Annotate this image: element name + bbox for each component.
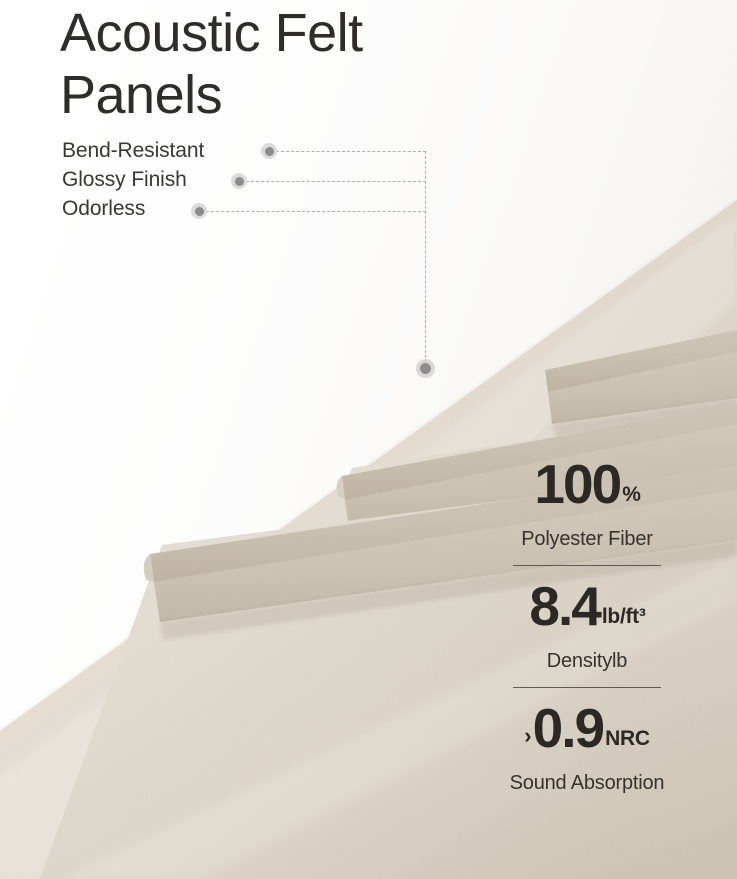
- connector-line-1: [276, 151, 426, 152]
- connector-line-vertical: [425, 151, 426, 363]
- feature-item-glossy-finish: Glossy Finish: [62, 165, 204, 194]
- spec-list: 100% Polyester Fiber 8.4lb/ft³ Densitylb…: [487, 455, 687, 796]
- feature-label: Odorless: [62, 194, 145, 223]
- connector-dot-glossy-finish: [231, 173, 247, 189]
- spec-value: 8.4lb/ft³: [487, 577, 687, 646]
- connector-line-3: [206, 211, 426, 212]
- spec-item-density: 8.4lb/ft³ Densitylb: [487, 577, 687, 674]
- spec-number: 0.9: [533, 697, 603, 759]
- feature-label: Glossy Finish: [62, 165, 187, 194]
- connector-line-2: [246, 181, 426, 182]
- spec-divider-2: [513, 687, 661, 688]
- spec-value: ›0.9NRC: [487, 699, 687, 768]
- spec-label: Sound Absorption: [487, 770, 687, 796]
- spec-item-sound-absorption: ›0.9NRC Sound Absorption: [487, 699, 687, 796]
- product-infographic: Acoustic Felt Panels Bend-Resistant Glos…: [0, 0, 737, 879]
- page-title: Acoustic Felt Panels: [60, 2, 490, 126]
- title-line-2: Panels: [60, 64, 490, 126]
- connector-end-dot: [416, 359, 435, 378]
- spec-number: 8.4: [529, 575, 599, 637]
- spec-item-polyester-fiber: 100% Polyester Fiber: [487, 455, 687, 552]
- spec-label: Densitylb: [487, 648, 687, 674]
- spec-value: 100%: [487, 455, 687, 524]
- spec-unit: %: [622, 483, 640, 506]
- connector-dot-odorless: [191, 203, 207, 219]
- feature-list: Bend-Resistant Glossy Finish Odorless: [62, 136, 204, 223]
- spec-prefix: ›: [524, 723, 531, 748]
- spec-divider-1: [513, 565, 661, 566]
- title-line-1: Acoustic Felt: [60, 2, 490, 64]
- feature-item-bend-resistant: Bend-Resistant: [62, 136, 204, 165]
- feature-item-odorless: Odorless: [62, 194, 204, 223]
- spec-number: 100: [534, 453, 620, 515]
- connector-dot-bend-resistant: [261, 143, 277, 159]
- spec-unit: NRC: [605, 727, 650, 750]
- spec-unit: lb/ft³: [602, 605, 646, 628]
- feature-label: Bend-Resistant: [62, 136, 204, 165]
- spec-label: Polyester Fiber: [487, 526, 687, 552]
